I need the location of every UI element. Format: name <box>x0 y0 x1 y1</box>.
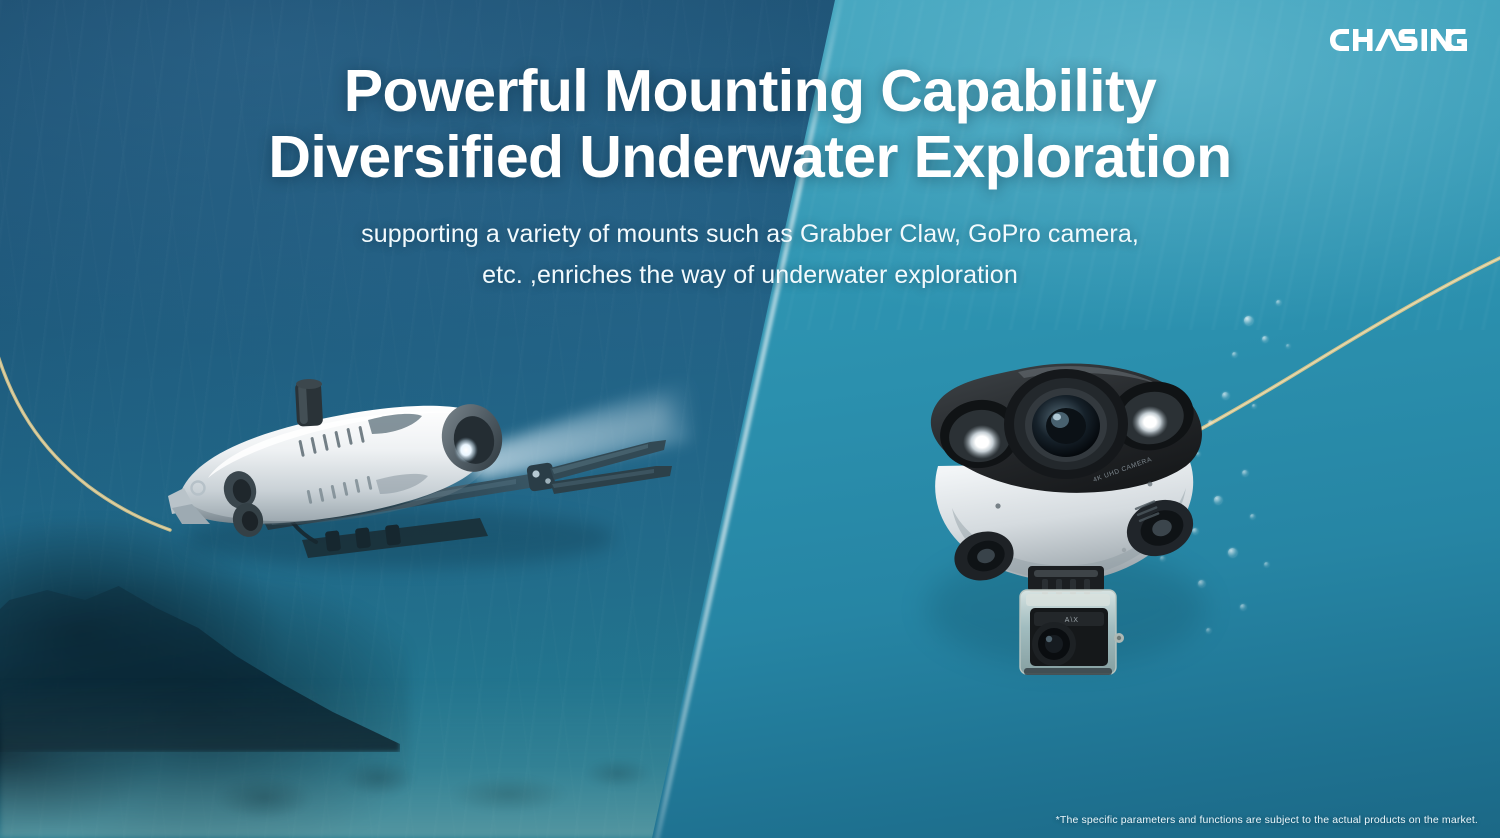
sensor-dot <box>1122 548 1126 552</box>
text-block: Powerful Mounting Capability Diversified… <box>0 0 1500 295</box>
gopro-brand-mark: X/A <box>1064 617 1078 624</box>
underwater-drone-with-gopro-camera: 4K UHD CAMERA <box>898 358 1248 698</box>
seabed-rocks <box>160 742 680 832</box>
disclaimer-note: *The specific parameters and functions a… <box>1056 814 1478 826</box>
sensor-dot <box>995 503 1000 508</box>
gopro-camera: X/A <box>1020 590 1124 675</box>
chasing-logo[interactable] <box>1330 29 1468 51</box>
subhead-line-2: etc. ,enriches the way of underwater exp… <box>0 255 1500 296</box>
banner-root: 4K UHD CAMERA <box>0 0 1500 838</box>
chasing-logo-icon <box>1330 29 1468 51</box>
headlight-lamp <box>454 437 478 463</box>
drone-hull <box>168 406 491 525</box>
underwater-drone-with-grabber-claw <box>150 368 690 598</box>
page-title: Powerful Mounting Capability Diversified… <box>0 58 1500 190</box>
headline-line-1: Powerful Mounting Capability <box>344 58 1156 124</box>
periscope-mast <box>295 379 323 427</box>
page-subtitle: supporting a variety of mounts such as G… <box>0 214 1500 295</box>
main-camera <box>1004 369 1128 479</box>
sensor-dot <box>1148 482 1153 487</box>
subhead-line-1: supporting a variety of mounts such as G… <box>361 220 1139 248</box>
claw-wrist <box>526 462 556 492</box>
headline-line-2: Diversified Underwater Exploration <box>0 124 1500 190</box>
